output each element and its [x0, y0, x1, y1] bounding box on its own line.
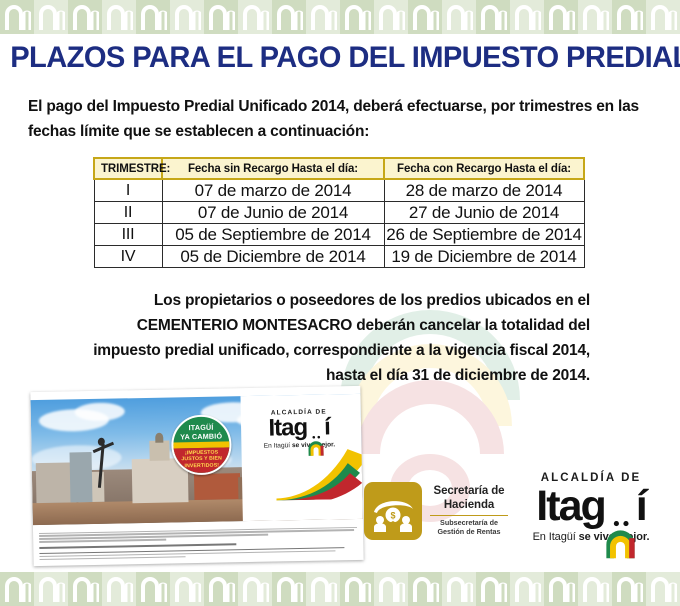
border-tile	[544, 0, 578, 34]
billboard-logo-word: Itag	[268, 414, 307, 442]
border-tile	[476, 572, 510, 606]
building-tower	[70, 452, 93, 502]
border-tile	[170, 572, 204, 606]
decorative-border-bottom	[0, 572, 680, 606]
border-tile	[340, 0, 374, 34]
cell-sin-recargo: 05 de Diciembre de 2014	[162, 246, 384, 268]
alcaldia-itagui-logo: ALCALDÍA DE Itag í En Itagüí se vive mej…	[516, 472, 666, 543]
hacienda-divider	[430, 515, 508, 516]
cell-con-recargo: 26 de Septiembre de 2014	[384, 224, 584, 246]
page-title: PLAZOS PARA EL PAGO DEL IMPUESTO PREDIAL…	[10, 41, 670, 75]
border-tile	[646, 572, 680, 606]
billboard-logo-tail: í	[324, 413, 330, 440]
border-tile	[612, 572, 646, 606]
intro-paragraph: El pago del Impuesto Predial Unificado 2…	[28, 94, 652, 144]
border-tile	[578, 572, 612, 606]
border-tile	[306, 0, 340, 34]
hacienda-line1: Secretaría de	[430, 485, 508, 499]
invoice-billboard-image: ITAGÜÍ YA CAMBIÓ ¡IMPUESTOS JUSTOS Y BIE…	[30, 386, 363, 566]
billboard-fine-print	[39, 526, 358, 562]
table-header-trimestre: TRIMESTRE:	[94, 158, 162, 179]
cell-sin-recargo: 07 de Junio de 2014	[162, 202, 384, 224]
badge-bottom-line3: INVERTIDOS!	[184, 462, 219, 469]
badge-bottom-text: ¡IMPUESTOS JUSTOS Y BIEN INVERTIDOS!	[174, 449, 230, 469]
hacienda-mark-icon: $	[364, 482, 422, 540]
cell-sin-recargo: 07 de marzo de 2014	[162, 179, 384, 202]
montesacro-notice: Los propietarios o poseedores de los pre…	[80, 288, 590, 388]
border-tile	[578, 0, 612, 34]
cell-quarter: III	[94, 224, 162, 246]
border-tile	[408, 0, 442, 34]
badge-top-text: ITAGÜÍ YA CAMBIÓ	[173, 422, 229, 441]
table-header-sin-recargo: Fecha sin Recargo Hasta el día:	[162, 158, 384, 179]
border-tile	[136, 0, 170, 34]
hacienda-text-block: Secretaría de Hacienda Subsecretaría de …	[430, 485, 508, 536]
table-header-row: TRIMESTRE: Fecha sin Recargo Hasta el dí…	[94, 158, 584, 179]
decorative-border-top	[0, 0, 680, 34]
table-row: IV05 de Diciembre de 201419 de Diciembre…	[94, 246, 584, 268]
border-tile	[238, 0, 272, 34]
border-tile	[510, 0, 544, 34]
border-tile	[510, 572, 544, 606]
alcaldia-slogan-pre: En Itagüí	[533, 531, 579, 543]
border-tile	[238, 572, 272, 606]
table-row: III05 de Septiembre de 201426 de Septiem…	[94, 224, 584, 246]
border-tile	[476, 0, 510, 34]
cell-quarter: IV	[94, 246, 162, 268]
border-tile	[34, 572, 68, 606]
alcaldia-slogan: En Itagüí se vive mejor.	[516, 531, 666, 543]
border-tile	[136, 572, 170, 606]
deadlines-table: TRIMESTRE: Fecha sin Recargo Hasta el dí…	[93, 157, 585, 268]
cell-con-recargo: 19 de Diciembre de 2014	[384, 246, 584, 268]
svg-text:$: $	[390, 511, 395, 521]
billboard-alcaldia-logo: ALCALDÍA DE Itag í En Itagüí se vive mej…	[247, 408, 352, 450]
alcaldia-wordmark: Itag í	[536, 484, 645, 528]
border-tile	[204, 0, 238, 34]
border-tile	[306, 572, 340, 606]
badge-top-line1: ITAGÜÍ	[188, 423, 213, 432]
border-tile	[340, 572, 374, 606]
border-tile	[68, 572, 102, 606]
rainbow-swoosh	[275, 447, 363, 501]
border-tile	[442, 572, 476, 606]
border-tile	[612, 0, 646, 34]
alcaldia-word: Itag	[536, 482, 604, 530]
border-tile	[544, 572, 578, 606]
border-tile	[272, 572, 306, 606]
border-tile	[102, 0, 136, 34]
alcaldia-arc-icon	[605, 518, 636, 562]
border-tile	[102, 572, 136, 606]
border-tile	[204, 572, 238, 606]
cell-con-recargo: 28 de marzo de 2014	[384, 179, 584, 202]
border-tile	[408, 572, 442, 606]
border-tile	[34, 0, 68, 34]
deadlines-table-wrapper: TRIMESTRE: Fecha sin Recargo Hasta el dí…	[93, 157, 583, 268]
building-right	[194, 473, 240, 500]
flyer-page: PLAZOS PARA EL PAGO DEL IMPUESTO PREDIAL…	[0, 0, 680, 606]
border-tile	[68, 0, 102, 34]
cell-con-recargo: 27 de Junio de 2014	[384, 202, 584, 224]
border-tile	[646, 0, 680, 34]
badge-top-line2: YA CAMBIÓ	[180, 432, 222, 442]
alcaldia-tail: í	[636, 482, 646, 530]
border-tile	[272, 0, 306, 34]
border-tile	[0, 0, 34, 34]
cell-quarter: I	[94, 179, 162, 202]
secretaria-hacienda-logo: $ Secretaría de Hacienda Subsecretaría d…	[364, 478, 514, 544]
table-header-con-recargo: Fecha con Recargo Hasta el día:	[384, 158, 584, 179]
table-row: II07 de Junio de 201427 de Junio de 2014	[94, 202, 584, 224]
billboard-white-panel: ALCALDÍA DE Itag í En Itagüí se vive mej…	[240, 394, 362, 521]
hacienda-sub2: Gestión de Rentas	[430, 528, 508, 537]
border-tile	[374, 572, 408, 606]
billboard-logo-wordmark: Itag í	[247, 415, 351, 441]
border-tile	[170, 0, 204, 34]
cell-quarter: II	[94, 202, 162, 224]
hacienda-line2: Hacienda	[430, 499, 508, 513]
border-tile	[374, 0, 408, 34]
itagui-ya-cambio-badge: ITAGÜÍ YA CAMBIÓ ¡IMPUESTOS JUSTOS Y BIE…	[171, 414, 232, 475]
cell-sin-recargo: 05 de Septiembre de 2014	[162, 224, 384, 246]
border-tile	[442, 0, 476, 34]
border-tile	[0, 572, 34, 606]
table-row: I07 de marzo de 201428 de marzo de 2014	[94, 179, 584, 202]
